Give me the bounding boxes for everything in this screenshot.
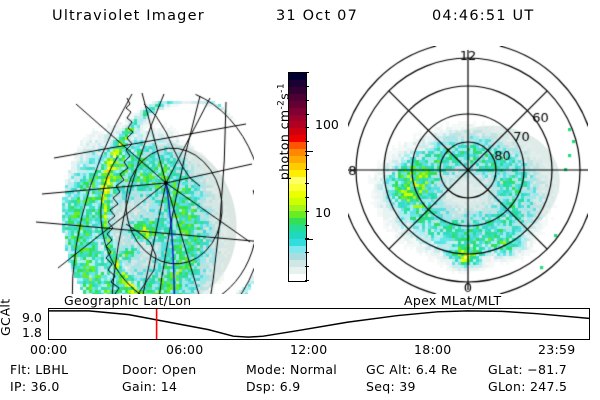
colorbar-band xyxy=(289,211,306,218)
status-door: Door: Open xyxy=(122,362,196,377)
time-axis-label: 18:00 xyxy=(414,342,452,357)
colorbar-band xyxy=(289,260,306,267)
altitude-axis-label-line1: GC xyxy=(0,317,13,336)
status-gain: Gain: 14 xyxy=(122,379,177,394)
status-ip: IP: 36.0 xyxy=(10,379,60,394)
colorbar-band xyxy=(289,246,306,253)
time-axis-label: 00:00 xyxy=(30,342,68,357)
colorbar-minor-tick xyxy=(305,141,309,142)
colorbar-major-tick xyxy=(305,239,313,240)
apex-panel-caption: Apex MLat/MLT xyxy=(404,293,501,308)
altitude-trace-line xyxy=(49,311,589,337)
status-seq: Seq: 39 xyxy=(366,379,416,394)
colorbar-band xyxy=(289,225,306,232)
altitude-axis-label-line2: Alt xyxy=(0,299,12,317)
colorbar-minor-tick xyxy=(305,100,309,101)
apex-aurora-canvas xyxy=(348,46,588,294)
colorbar-major-tick xyxy=(305,151,313,152)
colorbar-band xyxy=(289,232,306,239)
colorbar-minor-tick xyxy=(305,86,309,87)
colorbar-minor-tick xyxy=(305,114,309,115)
altitude-tick-high: 9.0 xyxy=(22,310,42,325)
colorbar-band xyxy=(289,274,306,281)
geographic-aurora-canvas xyxy=(14,46,254,294)
colorbar-minor-tick xyxy=(305,169,309,170)
time-axis: 00:0006:0012:0018:0023:59 xyxy=(0,342,600,360)
colorbar-band xyxy=(289,239,306,246)
status-flt: Flt: LBHL xyxy=(10,362,68,377)
colorbar-band xyxy=(289,218,306,225)
colorbar-minor-tick xyxy=(305,197,309,198)
observation-time: 04:46:51 UT xyxy=(432,8,534,24)
status-dsp: Dsp: 6.9 xyxy=(246,379,301,394)
colorbar-tick-label: 10 xyxy=(315,205,331,220)
colorbar-minor-tick xyxy=(305,252,309,253)
colorbar-minor-tick xyxy=(305,225,309,226)
status-gc-alt: GC Alt: 6.4 Re xyxy=(366,362,457,377)
colorbar-minor-tick xyxy=(305,211,309,212)
status-glat: GLat: −81.7 xyxy=(488,362,567,377)
altitude-trace-svg xyxy=(49,309,589,339)
colorbar-minor-tick xyxy=(305,280,309,281)
colorbar-minor-tick xyxy=(305,183,309,184)
colorbar-minor-tick xyxy=(305,266,309,267)
status-glon: GLon: 247.5 xyxy=(488,379,567,394)
status-mode: Mode: Normal xyxy=(246,362,337,377)
colorbar: photon cm-2s-1 10010 xyxy=(256,46,348,294)
colorbar-minor-tick xyxy=(305,127,309,128)
geographic-image-panel[interactable] xyxy=(14,46,254,294)
header-bar: Ultraviolet Imager 31 Oct 07 04:46:51 UT xyxy=(0,4,600,30)
geographic-panel-caption: Geographic Lat/Lon xyxy=(64,293,191,308)
colorbar-axis-label: photon cm-2s-1 xyxy=(276,57,291,207)
colorbar-band xyxy=(289,267,306,274)
altitude-tick-low: 1.8 xyxy=(22,325,42,340)
apex-polar-panel[interactable] xyxy=(348,46,588,294)
orbit-altitude-strip[interactable] xyxy=(48,308,590,340)
observation-date: 31 Oct 07 xyxy=(276,8,358,24)
time-axis-label: 06:00 xyxy=(166,342,204,357)
colorbar-band xyxy=(289,253,306,260)
time-axis-label: 12:00 xyxy=(290,342,328,357)
time-axis-label: 23:59 xyxy=(538,342,576,357)
colorbar-minor-tick xyxy=(305,155,309,156)
colorbar-tick-label: 100 xyxy=(315,117,339,132)
colorbar-ticks xyxy=(305,72,313,282)
colorbar-minor-tick xyxy=(305,72,309,73)
status-panel: Flt: LBHL IP: 36.0 Door: Open Gain: 14 M… xyxy=(0,362,600,400)
instrument-title: Ultraviolet Imager xyxy=(52,8,205,24)
